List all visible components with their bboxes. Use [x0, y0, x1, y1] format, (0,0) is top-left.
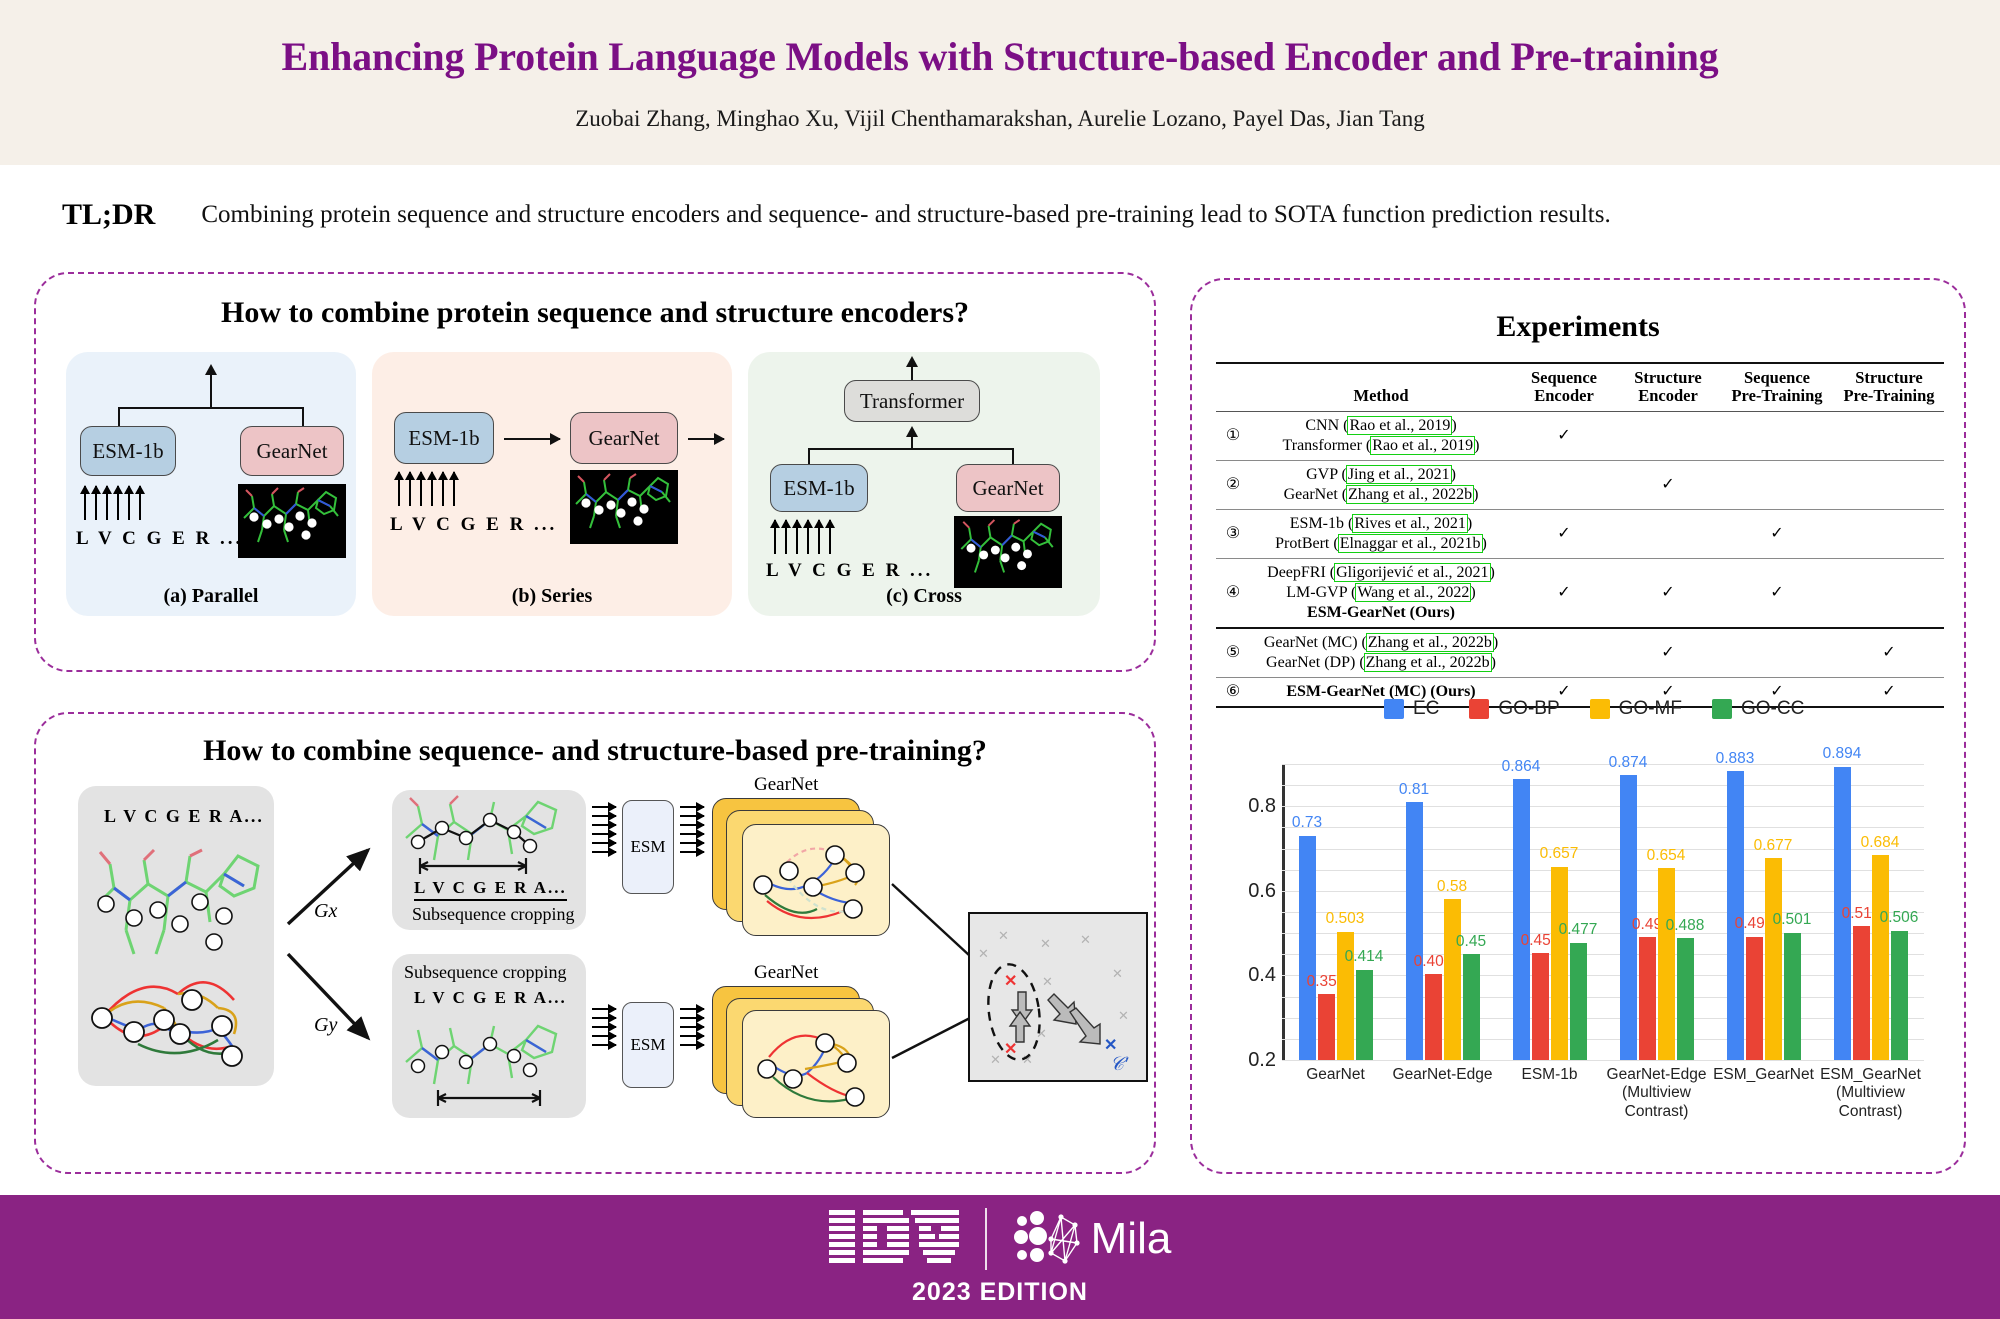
arrow-right-icon: [592, 1035, 616, 1037]
check-sequence-pretraining: [1720, 628, 1834, 678]
arrow-right-icon: [680, 842, 704, 844]
method-entry: GearNet (DP) (Zhang et al., 2022b): [1253, 653, 1509, 673]
x-axis-label: GearNet-Edge(MultiviewContrast): [1603, 1066, 1710, 1121]
node-transformer[interactable]: Transformer: [844, 380, 980, 422]
bar-group: 0.810.4030.580.45: [1389, 764, 1496, 1060]
check-structure-pretraining: [1834, 411, 1944, 460]
bar-go-cc[interactable]: 0.477: [1570, 943, 1587, 1060]
arrow-right-icon: [592, 1008, 616, 1010]
method-suffix: ): [1467, 515, 1472, 532]
panel-experiments: Experiments Method Sequence Encoder Stru…: [1190, 278, 1966, 1174]
arrow-right-icon: [680, 851, 704, 853]
panel-experiments-title: Experiments: [1192, 310, 1964, 344]
citation[interactable]: Rao et al., 2019: [1348, 417, 1451, 434]
figure-series: ESM-1b GearNet L V C G E R ...: [372, 352, 732, 616]
col-line-2: Encoder: [1534, 386, 1594, 405]
table-row[interactable]: ①CNN (Rao et al., 2019)Transformer (Rao …: [1216, 411, 1944, 460]
check-sequence-pretraining: ✓: [1720, 558, 1834, 628]
row-index: ④: [1216, 558, 1250, 628]
bar-value-label: 0.506: [1880, 910, 1919, 926]
arrow-up-icon: [420, 472, 422, 506]
table-head: Method Sequence Encoder Structure Encode…: [1216, 363, 1944, 411]
arrow-up-icon: [807, 520, 809, 554]
check-sequence-encoder: ✓: [1512, 558, 1616, 628]
source-graph-svg: [82, 964, 272, 1080]
footer-divider: [985, 1208, 987, 1270]
bar-value-label: 0.654: [1647, 848, 1686, 864]
svg-text:✕: ✕: [978, 946, 989, 961]
citation[interactable]: Elnaggar et al., 2021b: [1339, 535, 1482, 552]
bar-value-label: 0.684: [1861, 835, 1900, 851]
row-index: ③: [1216, 509, 1250, 558]
check-sequence-pretraining: [1720, 411, 1834, 460]
method-cell: CNN (Rao et al., 2019)Transformer (Rao e…: [1250, 411, 1512, 460]
figure-caption: (a) Parallel: [66, 585, 356, 608]
source-sequence: L V C G E R A...: [104, 806, 264, 827]
gearnet-stack-bottom: [712, 986, 892, 1122]
esm-in-arrows-bottom: [592, 1008, 616, 1046]
y-axis-tick: 0.4: [1216, 964, 1276, 987]
x-axis-label-line: GearNet: [1282, 1066, 1389, 1084]
bar-value-label: 0.477: [1559, 922, 1598, 938]
method-cell: GearNet (MC) (Zhang et al., 2022b)GearNe…: [1250, 628, 1512, 678]
protein-structure-image: [238, 484, 346, 558]
x-axis-label-line: Contrast): [1817, 1103, 1924, 1121]
arrow-up-icon: [106, 486, 108, 520]
check-structure-encoder: ✓: [1616, 460, 1720, 509]
crop-sequence-bottom: L V C G E R A...: [414, 988, 567, 1008]
row-index: ②: [1216, 460, 1250, 509]
experiments-table-wrap: Method Sequence Encoder Structure Encode…: [1216, 362, 1944, 708]
esm-encoder-top[interactable]: ESM: [622, 800, 674, 894]
table-header-row: Method Sequence Encoder Structure Encode…: [1216, 363, 1944, 411]
bar-go-bp[interactable]: 0.403: [1425, 974, 1442, 1060]
legend-label: GO-MF: [1619, 698, 1682, 720]
branch-right: [302, 407, 304, 427]
check-sequence-pretraining: [1720, 460, 1834, 509]
bar-group: 0.8640.4520.6570.477: [1496, 764, 1603, 1060]
bar-value-label: 0.503: [1326, 911, 1365, 927]
embedding-space-box: ✕✕ ✕✕ ✕✕ ✕✕ ✕✕ ✕ ✕ ✕ 𝒞': [968, 912, 1148, 1082]
arrow-right-icon: [592, 824, 616, 826]
panel-pretraining: How to combine sequence- and structure-b…: [34, 712, 1156, 1174]
arrow-up-icon: [453, 472, 455, 506]
method-name: GearNet (MC) (: [1264, 634, 1367, 651]
col-method: Method: [1250, 363, 1512, 411]
table-row[interactable]: ②GVP (Jing et al., 2021)GearNet (Zhang e…: [1216, 460, 1944, 509]
arrow-right-icon: [592, 1017, 616, 1019]
col-structure-pretraining: Structure Pre-Training: [1834, 363, 1944, 411]
check-sequence-pretraining: ✓: [1720, 509, 1834, 558]
page-title: Enhancing Protein Language Models with S…: [282, 33, 1719, 80]
esm-out-arrows-bottom: [680, 1008, 704, 1046]
method-entry: ProtBert (Elnaggar et al., 2021b): [1253, 534, 1509, 554]
svg-text:✕: ✕: [1112, 966, 1123, 981]
arrow-right-icon: [688, 438, 724, 440]
view-x-symbol: Gx: [314, 900, 337, 923]
svg-text:✕: ✕: [1080, 932, 1091, 947]
arrow-up-icon: [796, 520, 798, 554]
protein-structure-image: [570, 470, 678, 544]
esm-in-arrows-top: [592, 806, 616, 853]
output-stem: [210, 374, 212, 408]
method-name: GVP (: [1306, 466, 1347, 483]
bar-value-label: 0.657: [1540, 846, 1579, 862]
x-axis-label-line: GearNet-Edge: [1603, 1066, 1710, 1084]
svg-text:✕: ✕: [1104, 1037, 1117, 1054]
merge-bar: [118, 407, 304, 409]
arrow-up-icon: [139, 486, 141, 520]
bar-go-cc[interactable]: 0.488: [1677, 938, 1694, 1060]
table-body: ①CNN (Rao et al., 2019)Transformer (Rao …: [1216, 411, 1944, 707]
col-line-1: Sequence: [1744, 368, 1810, 387]
legend-item[interactable]: EC: [1384, 698, 1439, 720]
method-entry: DeepFRI (Gligorijević et al., 2021): [1253, 563, 1509, 583]
arrow-right-icon: [504, 438, 560, 440]
svg-text:✕: ✕: [1040, 936, 1051, 951]
method-entry: GearNet (Zhang et al., 2022b): [1253, 485, 1509, 505]
bar-group: 0.8830.4910.6770.501: [1710, 764, 1817, 1060]
arrow-right-icon: [680, 1026, 704, 1028]
arrow-right-icon: [592, 833, 616, 835]
esm-encoder-bottom[interactable]: ESM: [622, 1002, 674, 1088]
mila-mark-icon: [1013, 1209, 1085, 1269]
check-sequence-encoder: ✓: [1512, 411, 1616, 460]
poster-footer: Mila 2023 EDITION: [0, 1195, 2000, 1319]
bar-ec[interactable]: 0.81: [1406, 802, 1423, 1060]
arrow-up-icon: [409, 472, 411, 506]
arrow-right-icon: [592, 1026, 616, 1028]
encoder-figure-row: ESM-1b GearNet L V C G E R ...: [66, 352, 1100, 616]
method-name: GearNet (DP) (: [1266, 654, 1365, 671]
crop-box-top: L V C G E R A... Subsequence cropping: [392, 790, 586, 930]
method-entry: Transformer (Rao et al., 2019): [1253, 436, 1509, 456]
method-suffix: ): [1482, 535, 1487, 552]
legend-swatch-go-cc: [1712, 699, 1732, 719]
node-esm-1b[interactable]: ESM-1b: [80, 426, 176, 476]
mila-wordmark: Mila: [1091, 1214, 1172, 1264]
method-suffix: ): [1451, 417, 1456, 434]
arrow-up-icon: [117, 486, 119, 520]
citation[interactable]: Zhang et al., 2022b: [1367, 634, 1493, 651]
legend-swatch-ec: [1384, 699, 1404, 719]
table-row[interactable]: ④DeepFRI (Gligorijević et al., 2021)LM-G…: [1216, 558, 1944, 628]
arrow-up-icon: [818, 520, 820, 554]
arrow-right-icon: [592, 851, 616, 853]
method-suffix: ): [1473, 486, 1478, 503]
svg-text:✕: ✕: [1004, 973, 1017, 990]
x-axis-label-line: GearNet-Edge: [1389, 1066, 1496, 1084]
gearnet-graph-svg: [743, 1011, 889, 1117]
bar-go-bp[interactable]: 0.516: [1853, 926, 1870, 1060]
bar-value-label: 0.874: [1609, 755, 1648, 771]
check-sequence-encoder: [1512, 460, 1616, 509]
row-index: ①: [1216, 411, 1250, 460]
merge-bar: [808, 448, 1014, 450]
gearnet-graph-svg: [743, 825, 889, 935]
legend-label: GO-CC: [1741, 698, 1804, 720]
citation[interactable]: Jing et al., 2021: [1347, 466, 1451, 483]
bar-go-bp[interactable]: 0.49: [1639, 937, 1656, 1060]
bar-go-bp[interactable]: 0.356: [1318, 994, 1335, 1060]
method-entry: GearNet (MC) (Zhang et al., 2022b): [1253, 633, 1509, 653]
protein-svg: [238, 484, 346, 558]
y-axis-tick: 0.2: [1216, 1049, 1276, 1072]
x-axis-labels: GearNetGearNet-EdgeESM-1bGearNet-Edge(Mu…: [1282, 1066, 1924, 1121]
bar-go-mf[interactable]: 0.684: [1872, 855, 1889, 1060]
mila-logo: Mila: [1013, 1209, 1172, 1269]
arrow-right-icon: [680, 824, 704, 826]
bar-go-bp[interactable]: 0.491: [1746, 937, 1763, 1060]
arrow-up-icon: [431, 472, 433, 506]
legend-label: GO-BP: [1498, 698, 1559, 720]
bar-go-mf[interactable]: 0.654: [1658, 868, 1675, 1060]
method-name: ProtBert (: [1275, 535, 1339, 552]
view-y-symbol: Gy: [314, 1014, 337, 1037]
legend-swatch-go-bp: [1469, 699, 1489, 719]
bar-go-cc[interactable]: 0.506: [1891, 931, 1908, 1060]
method-name: DeepFRI (: [1267, 564, 1335, 581]
legend-item[interactable]: GO-BP: [1469, 698, 1559, 720]
bar-group: 0.8740.490.6540.488: [1603, 764, 1710, 1060]
method-entry: CNN (Rao et al., 2019): [1253, 416, 1509, 436]
method-name: LM-GVP (: [1286, 584, 1356, 601]
gearnet-card: [742, 824, 890, 936]
bar-value-label: 0.73: [1292, 815, 1322, 831]
figure-parallel: ESM-1b GearNet L V C G E R ...: [66, 352, 356, 616]
check-sequence-encoder: ✓: [1512, 509, 1616, 558]
figure-caption: (b) Series: [372, 585, 732, 608]
gearnet-label-bottom: GearNet: [754, 962, 818, 984]
x-axis-label-line: ESM_GearNet: [1817, 1066, 1924, 1084]
bar-value-label: 0.883: [1716, 751, 1755, 767]
ibm-logo-svg: [829, 1210, 959, 1268]
panel-encoders-title: How to combine protein sequence and stru…: [36, 296, 1154, 330]
col-structure-encoder: Structure Encoder: [1616, 363, 1720, 411]
tldr-text: Combining protein sequence and structure…: [201, 201, 1610, 229]
method-cell: DeepFRI (Gligorijević et al., 2021)LM-GV…: [1250, 558, 1512, 628]
arrow-up-icon: [398, 472, 400, 506]
y-axis-tick: 0.8: [1216, 795, 1276, 818]
legend-item[interactable]: GO-MF: [1590, 698, 1682, 720]
esm-out-arrows-top: [680, 806, 704, 853]
bar-value-label: 0.45: [1456, 934, 1486, 950]
x-axis-label: GearNet-Edge: [1389, 1066, 1496, 1121]
col-sequence-pretraining: Sequence Pre-Training: [1720, 363, 1834, 411]
y-axis-tick: 0.6: [1216, 880, 1276, 903]
citation[interactable]: Gligorijević et al., 2021: [1335, 564, 1489, 581]
bar-value-label: 0.414: [1345, 949, 1384, 965]
col-index: [1216, 363, 1250, 411]
bar-go-cc[interactable]: 0.45: [1463, 954, 1480, 1060]
svg-text:✕: ✕: [998, 928, 1009, 943]
arrow-up-icon: [785, 520, 787, 554]
chart-plot-area: 0.20.40.60.8 0.730.3560.5030.4140.810.40…: [1282, 764, 1924, 1060]
cropped-structure-bottom-svg: [396, 1016, 584, 1112]
legend-item[interactable]: GO-CC: [1712, 698, 1804, 720]
col-sequence-encoder: Sequence Encoder: [1512, 363, 1616, 411]
x-axis-label: ESM_GearNet: [1710, 1066, 1817, 1121]
method-entry: GVP (Jing et al., 2021): [1253, 465, 1509, 485]
gridline: [1282, 1060, 1924, 1061]
protein-svg: [570, 470, 678, 544]
source-structure-svg: [82, 842, 272, 972]
check-structure-encoder: ✓: [1616, 628, 1720, 678]
citation[interactable]: Rives et al., 2021: [1353, 515, 1467, 532]
bar-ec[interactable]: 0.864: [1513, 779, 1530, 1060]
method-suffix: ): [1451, 466, 1456, 483]
bar-value-label: 0.488: [1666, 918, 1705, 934]
arrow-right-icon: [680, 1044, 704, 1046]
gearnet-label-top: GearNet: [754, 774, 818, 796]
arrow-up-icon: [95, 486, 97, 520]
col-line-1: Structure: [1634, 368, 1702, 387]
arrow-up-icon: [829, 520, 831, 554]
sequence-arrows: [774, 520, 831, 554]
table-row[interactable]: ⑤GearNet (MC) (Zhang et al., 2022b)GearN…: [1216, 628, 1944, 678]
x-axis-label-line: (Multiview: [1817, 1084, 1924, 1102]
method-suffix: ): [1470, 584, 1475, 601]
bar-ec[interactable]: 0.73: [1299, 836, 1316, 1060]
edition-label: 2023 EDITION: [912, 1278, 1088, 1307]
node-esm-1b[interactable]: ESM-1b: [770, 464, 868, 512]
bar-go-mf[interactable]: 0.58: [1444, 899, 1461, 1060]
arrow-up-icon: [128, 486, 130, 520]
col-line-2: Encoder: [1638, 386, 1698, 405]
arrow-up-icon: [774, 520, 776, 554]
arrow-right-icon: [592, 815, 616, 817]
arrow-right-icon: [592, 842, 616, 844]
svg-text:✕: ✕: [1118, 1008, 1129, 1023]
protein-svg: [954, 516, 1062, 588]
node-gearnet[interactable]: GearNet: [956, 464, 1060, 512]
bar-value-label: 0.677: [1754, 838, 1793, 854]
figure-cross: Transformer ESM-1b GearNet L V C G E R .…: [748, 352, 1100, 616]
method-suffix: ): [1490, 564, 1495, 581]
check-structure-encoder: [1616, 509, 1720, 558]
footer-logos: Mila: [829, 1208, 1172, 1270]
sequence-arrows: [398, 472, 455, 506]
poster-header: Enhancing Protein Language Models with S…: [0, 0, 2000, 165]
col-line-1: Structure: [1855, 368, 1923, 387]
x-axis-label-line: ESM-1b: [1496, 1066, 1603, 1084]
results-bar-chart: ECGO-BPGO-MFGO-CC 0.20.40.60.8 0.730.356…: [1208, 698, 1952, 1160]
method-name: GearNet (: [1284, 486, 1348, 503]
col-line-2: Pre-Training: [1731, 386, 1822, 405]
legend-label: EC: [1413, 698, 1439, 720]
check-structure-encoder: ✓: [1616, 558, 1720, 628]
bar-go-bp[interactable]: 0.452: [1532, 953, 1549, 1060]
arrow-right-icon: [680, 815, 704, 817]
arrow-right-icon: [680, 1017, 704, 1019]
method-name: ESM-1b (: [1290, 515, 1354, 532]
arrow-up-icon: [442, 472, 444, 506]
bar-value-label: 0.58: [1437, 879, 1467, 895]
cropped-structure-top-svg: [396, 794, 584, 880]
bar-value-label: 0.501: [1773, 912, 1812, 928]
panel-encoders: How to combine protein sequence and stru…: [34, 272, 1156, 672]
bar-value-label: 0.81: [1399, 782, 1429, 798]
x-axis-label-line: Contrast): [1603, 1103, 1710, 1121]
method-cell: GVP (Jing et al., 2021)GearNet (Zhang et…: [1250, 460, 1512, 509]
bar-go-cc[interactable]: 0.414: [1356, 970, 1373, 1060]
node-esm-1b[interactable]: ESM-1b: [394, 412, 494, 464]
check-structure-pretraining: [1834, 558, 1944, 628]
citation[interactable]: Wang et al., 2022: [1356, 584, 1470, 601]
table-row[interactable]: ③ESM-1b (Rives et al., 2021)ProtBert (El…: [1216, 509, 1944, 558]
bar-value-label: 0.864: [1502, 759, 1541, 775]
method-cell: ESM-1b (Rives et al., 2021)ProtBert (Eln…: [1250, 509, 1512, 558]
author-list: Zuobai Zhang, Minghao Xu, Vijil Chentham…: [575, 106, 1425, 132]
svg-text:✕: ✕: [1004, 1041, 1017, 1058]
x-axis-label: GearNet: [1282, 1066, 1389, 1121]
sequence-text: L V C G E R ...: [766, 560, 933, 582]
citation[interactable]: Rao et al., 2019: [1371, 437, 1474, 454]
crop-sequence-top: L V C G E R A...: [414, 878, 567, 901]
arrow-right-icon: [680, 1008, 704, 1010]
citation[interactable]: Zhang et al., 2022b: [1365, 654, 1491, 671]
tldr-row: TL;DR Combining protein sequence and str…: [0, 185, 2000, 245]
sequence-arrows: [84, 486, 141, 520]
arrow-right-icon: [680, 1035, 704, 1037]
check-structure-pretraining: [1834, 509, 1944, 558]
method-name: Transformer (: [1283, 437, 1372, 454]
arrow-right-icon: [592, 806, 616, 808]
gearnet-stack-top: [712, 798, 892, 938]
node-gearnet[interactable]: GearNet: [570, 412, 678, 464]
method-entry: LM-GVP (Wang et al., 2022): [1253, 583, 1509, 603]
check-structure-pretraining: ✓: [1834, 628, 1944, 678]
gearnet-card: [742, 1010, 890, 1118]
row-index: ⑤: [1216, 628, 1250, 678]
bar-go-mf[interactable]: 0.677: [1765, 858, 1782, 1060]
svg-text:𝒞': 𝒞': [1110, 1054, 1129, 1075]
col-line-2: Pre-Training: [1843, 386, 1934, 405]
crop-caption-bottom: Subsequence cropping: [404, 962, 566, 983]
bar-go-cc[interactable]: 0.501: [1784, 933, 1801, 1060]
figure-caption: (c) Cross: [748, 585, 1100, 608]
arrow-up-icon: [84, 486, 86, 520]
crop-box-bottom: Subsequence cropping L V C G E R A...: [392, 954, 586, 1118]
col-line-1: Sequence: [1531, 368, 1597, 387]
method-name: ESM-GearNet (Ours): [1307, 604, 1455, 621]
ibm-logo-icon: [829, 1210, 959, 1268]
node-gearnet[interactable]: GearNet: [240, 426, 344, 476]
citation[interactable]: Zhang et al., 2022b: [1347, 486, 1473, 503]
method-suffix: ): [1474, 437, 1479, 454]
branch-left: [118, 407, 120, 427]
embedding-space-svg: ✕✕ ✕✕ ✕✕ ✕✕ ✕✕ ✕ ✕ ✕ 𝒞': [970, 914, 1146, 1080]
bar-group: 0.730.3560.5030.414: [1282, 764, 1389, 1060]
panel-pretraining-title: How to combine sequence- and structure-b…: [36, 734, 1154, 768]
bar-value-label: 0.894: [1823, 746, 1862, 762]
view-arrows-svg: [280, 794, 390, 1094]
check-structure-pretraining: [1834, 460, 1944, 509]
method-suffix: ): [1491, 654, 1496, 671]
arrow-right-icon: [592, 1044, 616, 1046]
chart-legend: ECGO-BPGO-MFGO-CC: [1384, 698, 1804, 720]
x-axis-label: ESM_GearNet(MultiviewContrast): [1817, 1066, 1924, 1121]
method-entry: ESM-GearNet (Ours): [1253, 603, 1509, 623]
poster-root: Enhancing Protein Language Models with S…: [0, 0, 2000, 1319]
bar-go-mf[interactable]: 0.657: [1551, 867, 1568, 1060]
experiments-table: Method Sequence Encoder Structure Encode…: [1216, 362, 1944, 708]
sequence-text: L V C G E R ...: [76, 528, 243, 550]
x-axis-label-line: (Multiview: [1603, 1084, 1710, 1102]
arrow-right-icon: [680, 833, 704, 835]
bar-groups: 0.730.3560.5030.4140.810.4030.580.450.86…: [1282, 764, 1924, 1060]
arrow-right-icon: [680, 806, 704, 808]
